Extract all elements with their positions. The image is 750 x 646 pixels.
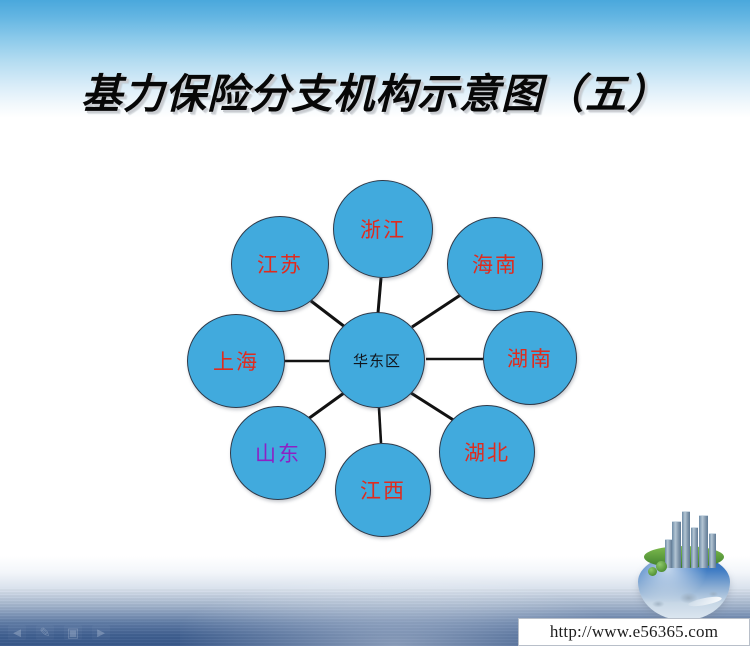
node-label: 浙江 [360,214,406,244]
edge-huadong-hainan [412,294,462,327]
edge-huadong-shandong [308,393,344,419]
node-jiangsu[interactable]: 江苏 [231,216,329,312]
presentation-slide: 基力保险分支机构示意图（五） 浙江 海南 湖南 湖北 [0,0,750,646]
node-huadong-hub[interactable]: 华东区 [329,312,425,408]
node-label: 湖北 [464,437,510,467]
node-label: 海南 [472,249,518,279]
pen-icon[interactable]: ✎ [36,625,54,640]
node-label: 江苏 [257,249,303,279]
website-url-text: http://www.e56365.com [550,622,718,642]
node-label: 华东区 [353,350,401,371]
slideshow-nav-controls[interactable]: ◄ ✎ ▣ ► [8,625,110,640]
node-jiangxi[interactable]: 江西 [335,443,431,537]
tree-icon [656,561,667,572]
prev-arrow-icon[interactable]: ◄ [8,625,26,640]
node-hunan[interactable]: 湖南 [483,311,577,405]
node-shanghai[interactable]: 上海 [187,314,285,408]
edge-huadong-hubei [411,393,455,421]
node-label: 湖南 [507,343,553,373]
building-icon [699,515,708,568]
node-label: 山东 [255,438,301,468]
node-shandong[interactable]: 山东 [230,406,326,500]
website-url-box[interactable]: http://www.e56365.com [518,618,750,646]
edge-huadong-jiangsu [311,301,345,327]
tree-icon [648,567,657,576]
building-icon [672,521,681,568]
menu-icon[interactable]: ▣ [64,625,82,640]
node-label: 上海 [213,346,259,376]
building-icon [691,527,698,568]
edge-huadong-jiangxi [379,408,381,443]
node-hainan[interactable]: 海南 [447,217,543,311]
node-hubei[interactable]: 湖北 [439,405,535,499]
node-zhejiang[interactable]: 浙江 [333,180,433,278]
edge-huadong-zhejiang [378,278,381,313]
next-arrow-icon[interactable]: ► [92,625,110,640]
building-icon [709,533,716,568]
globe-city-logo-icon [632,524,736,622]
node-label: 江西 [360,475,406,505]
building-icon [682,511,690,568]
